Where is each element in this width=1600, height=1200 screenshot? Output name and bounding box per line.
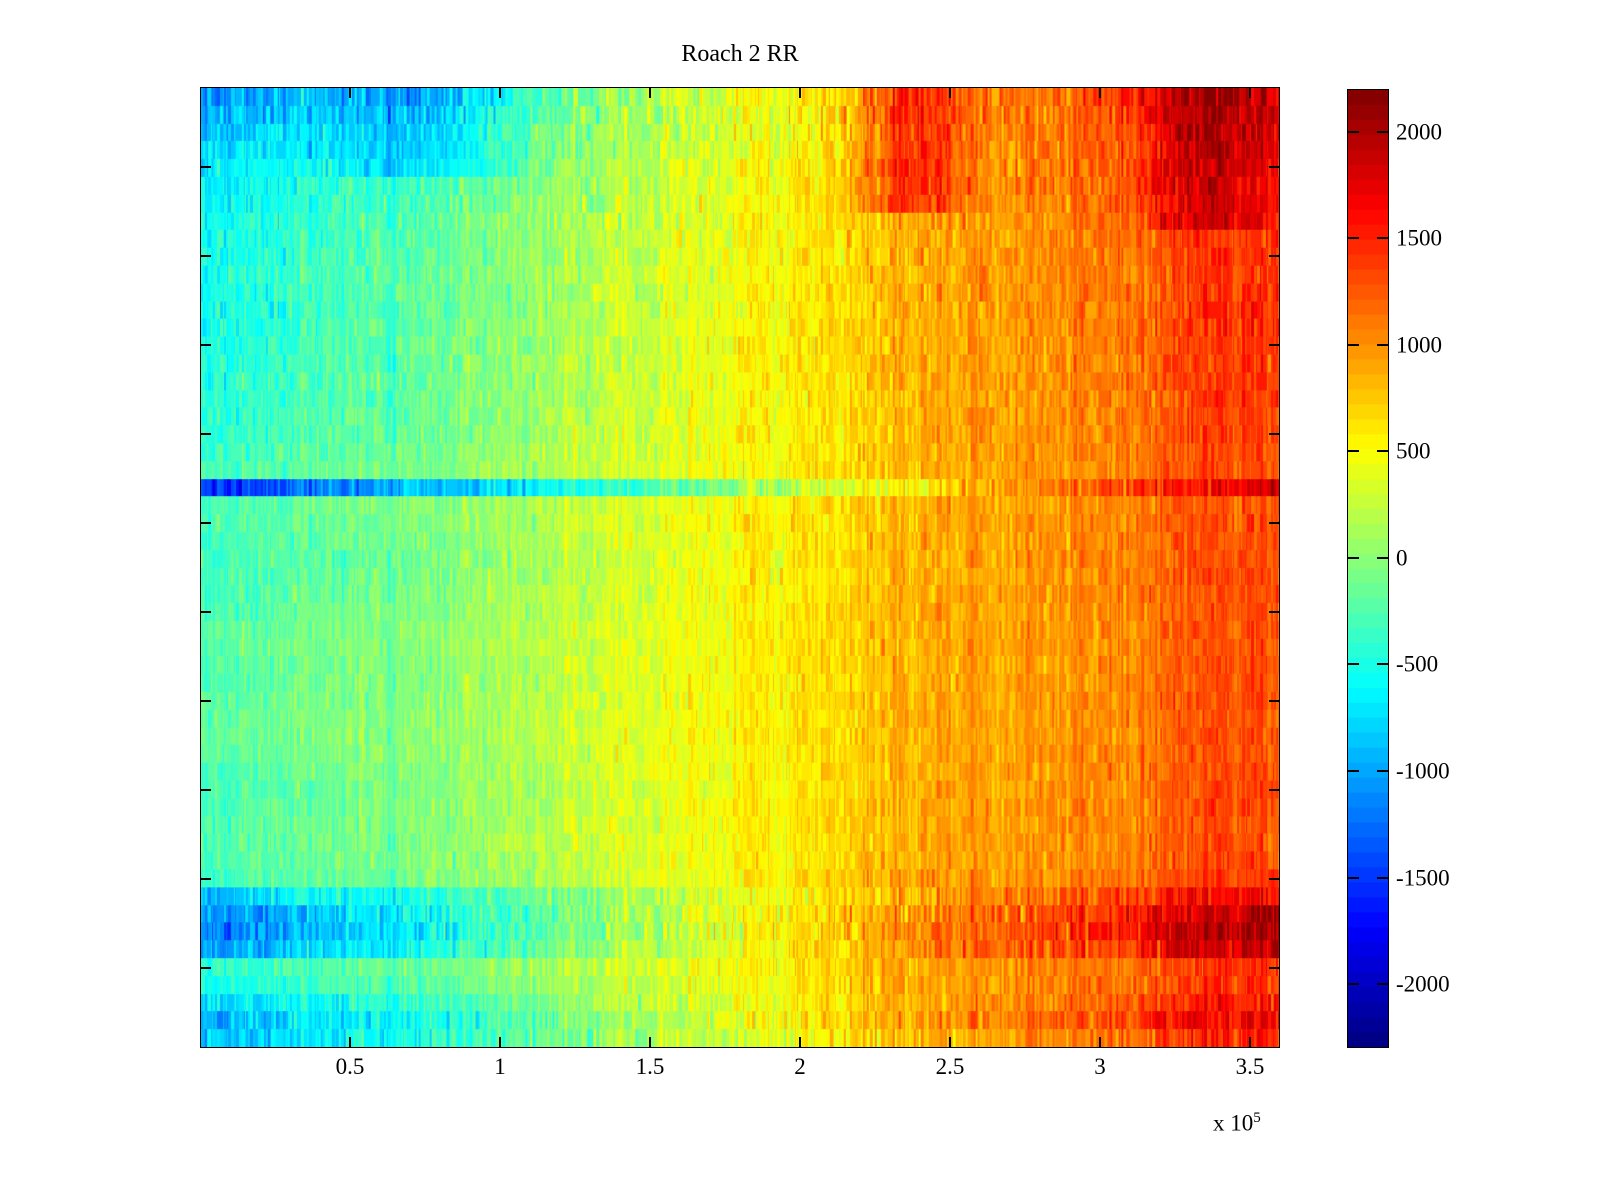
colorbar-tick-label: 0	[1396, 546, 1408, 569]
y-tick-mark	[200, 255, 211, 257]
x-tick-mark-top	[1249, 87, 1251, 98]
colorbar-tick-mark-left	[1348, 877, 1359, 879]
x-tick-mark	[949, 1037, 951, 1048]
x-tick-label: 2	[794, 1055, 806, 1078]
x-tick-mark	[799, 1037, 801, 1048]
y-tick-mark-right	[1269, 789, 1280, 791]
colorbar-tick-label: -500	[1396, 653, 1438, 676]
x-tick-mark	[499, 1037, 501, 1048]
y-tick-mark	[200, 433, 211, 435]
x-tick-label: 1	[494, 1055, 506, 1078]
colorbar-tick-mark-right	[1377, 877, 1388, 879]
x-tick-mark-top	[649, 87, 651, 98]
y-tick-mark	[200, 878, 211, 880]
colorbar-tick-mark-left	[1348, 983, 1359, 985]
colorbar-tick-label: -1500	[1396, 866, 1450, 889]
y-tick-mark-right	[1269, 611, 1280, 613]
x-tick-label: 0.5	[336, 1055, 365, 1078]
y-tick-mark-right	[1269, 255, 1280, 257]
y-tick-mark-right	[1269, 344, 1280, 346]
colorbar-tick-mark-right	[1377, 344, 1388, 346]
y-tick-mark	[200, 700, 211, 702]
x-tick-label: 3.5	[1236, 1055, 1265, 1078]
y-tick-mark	[200, 789, 211, 791]
y-tick-mark-right	[1269, 967, 1280, 969]
colorbar-tick-mark-right	[1377, 663, 1388, 665]
colorbar-tick-mark-right	[1377, 770, 1388, 772]
colorbar-tick-mark-left	[1348, 557, 1359, 559]
y-tick-mark-right	[1269, 878, 1280, 880]
y-tick-mark	[200, 344, 211, 346]
colorbar-tick-mark-left	[1348, 663, 1359, 665]
x-exponent-power: 5	[1253, 1110, 1261, 1126]
y-tick-mark-right	[1269, 522, 1280, 524]
y-tick-mark	[200, 611, 211, 613]
colorbar-tick-mark-right	[1377, 983, 1388, 985]
x-tick-mark	[349, 1037, 351, 1048]
colorbar-tick-label: 1500	[1396, 227, 1442, 250]
y-tick-mark-right	[1269, 433, 1280, 435]
heatmap-axes[interactable]	[200, 87, 1280, 1048]
y-tick-mark	[200, 166, 211, 168]
colorbar-tick-mark-left	[1348, 344, 1359, 346]
colorbar-tick-mark-left	[1348, 450, 1359, 452]
y-tick-mark	[200, 522, 211, 524]
x-exponent-base: x 10	[1213, 1111, 1253, 1136]
colorbar-tick-mark-right	[1377, 237, 1388, 239]
y-tick-mark-right	[1269, 166, 1280, 168]
colorbar-tick-label: 500	[1396, 440, 1431, 463]
matlab-figure: Roach 2 RR 5101520253035404550 0.511.522…	[0, 0, 1600, 1200]
x-tick-label: 2.5	[936, 1055, 965, 1078]
colorbar-tick-label: 2000	[1396, 120, 1442, 143]
colorbar-tick-mark-left	[1348, 770, 1359, 772]
x-tick-label: 1.5	[636, 1055, 665, 1078]
x-tick-mark-top	[499, 87, 501, 98]
y-tick-mark-right	[1269, 700, 1280, 702]
colorbar-tick-label: -1000	[1396, 759, 1450, 782]
colorbar-gradient	[1348, 90, 1388, 1047]
colorbar[interactable]	[1347, 89, 1389, 1048]
heatmap-image	[201, 88, 1279, 1047]
colorbar-tick-label: -2000	[1396, 973, 1450, 996]
colorbar-tick-mark-right	[1377, 131, 1388, 133]
colorbar-tick-mark-left	[1348, 131, 1359, 133]
x-tick-label: 3	[1094, 1055, 1106, 1078]
x-axis-exponent-label: x 105	[1213, 1105, 1261, 1137]
colorbar-tick-mark-left	[1348, 237, 1359, 239]
y-tick-mark	[200, 967, 211, 969]
x-tick-mark	[649, 1037, 651, 1048]
x-tick-mark-top	[949, 87, 951, 98]
x-tick-mark-top	[349, 87, 351, 98]
figure-title: Roach 2 RR	[200, 40, 1280, 68]
colorbar-tick-label: 1000	[1396, 333, 1442, 356]
x-tick-mark-top	[1099, 87, 1101, 98]
x-tick-mark	[1099, 1037, 1101, 1048]
x-tick-mark	[1249, 1037, 1251, 1048]
colorbar-tick-mark-right	[1377, 450, 1388, 452]
colorbar-tick-mark-right	[1377, 557, 1388, 559]
x-tick-mark-top	[799, 87, 801, 98]
